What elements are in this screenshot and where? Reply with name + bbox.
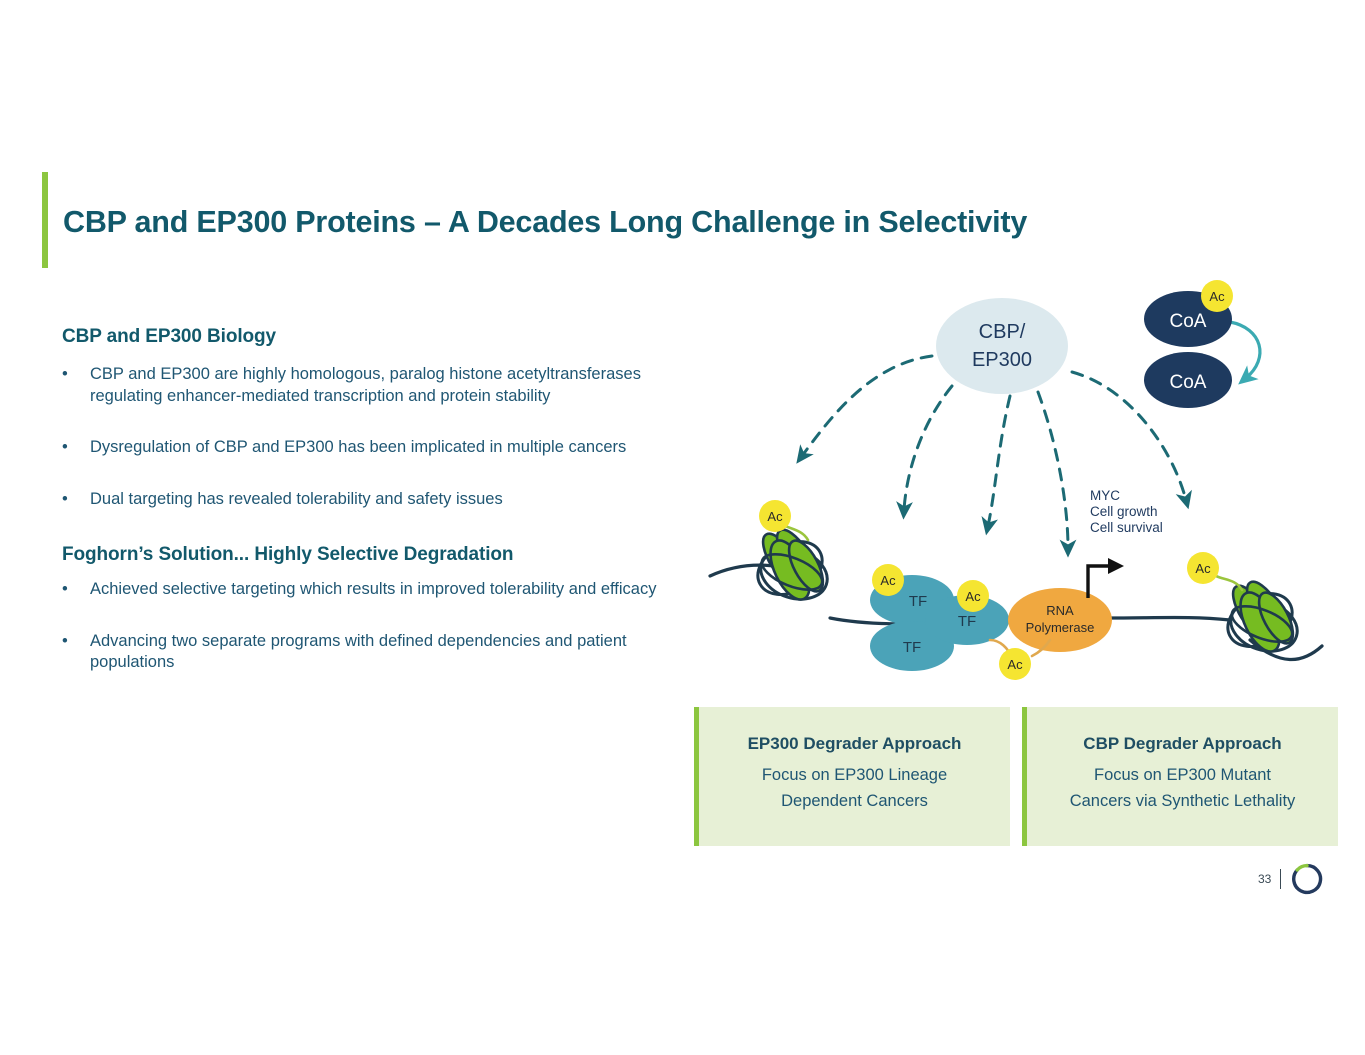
bubble-label-line2: EP300 <box>972 349 1032 371</box>
approach-line-2: Dependent Cancers <box>781 788 928 814</box>
ac-label: Ac <box>1195 561 1211 576</box>
ac-label: Ac <box>880 573 896 588</box>
page-number: 33 <box>1258 872 1271 886</box>
ac-label: Ac <box>965 589 981 604</box>
approach-boxes: EP300 Degrader Approach Focus on EP300 L… <box>694 707 1338 846</box>
cbp-ep300-mechanism-diagram: Ac TF TF TF Ac Ac <box>690 268 1340 698</box>
approach-title: EP300 Degrader Approach <box>748 734 962 754</box>
ac-badge-right-nucleosome: Ac <box>1187 552 1219 584</box>
outcome-text-block: MYC Cell growth Cell survival <box>1090 488 1163 535</box>
title-accent-bar <box>42 172 48 268</box>
dashed-arrow-2 <box>904 386 952 510</box>
bullet-dot-icon: • <box>62 437 90 459</box>
bullet-text: Dual targeting has revealed tolerability… <box>90 489 662 511</box>
list-item: • CBP and EP300 are highly homologous, p… <box>62 364 662 407</box>
polymerase-label-line2: Polymerase <box>1026 620 1095 635</box>
ac-badge-tf-right: Ac <box>957 580 989 612</box>
bullet-text: Dysregulation of CBP and EP300 has been … <box>90 437 662 459</box>
list-item: • Dysregulation of CBP and EP300 has bee… <box>62 437 662 459</box>
list-item: • Advancing two separate programs with d… <box>62 631 662 674</box>
approach-box-cbp: CBP Degrader Approach Focus on EP300 Mut… <box>1022 707 1338 846</box>
list-item: • Dual targeting has revealed tolerabili… <box>62 489 662 511</box>
outcome-line-3: Cell survival <box>1090 520 1163 535</box>
approach-title: CBP Degrader Approach <box>1083 734 1281 754</box>
slide-footer: 33 <box>1258 862 1324 896</box>
list-item: • Achieved selective targeting which res… <box>62 579 662 601</box>
foghorn-logo-icon <box>1290 862 1324 896</box>
slide-canvas: CBP and EP300 Proteins – A Decades Long … <box>0 0 1365 1055</box>
section-foghorn-solution: Foghorn’s Solution... Highly Selective D… <box>62 544 662 674</box>
coa-recycle-arrow <box>1230 322 1260 378</box>
transcription-start-arrow-icon <box>1088 558 1124 598</box>
polymerase-label-line1: RNA <box>1046 603 1074 618</box>
bullet-dot-icon: • <box>62 364 90 407</box>
coa-label: CoA <box>1170 372 1207 393</box>
ac-badge-polymerase: Ac <box>999 648 1031 680</box>
tf-label: TF <box>909 593 927 610</box>
dashed-arrow-1 <box>802 356 932 456</box>
section-heading-biology: CBP and EP300 Biology <box>62 326 662 348</box>
ac-label: Ac <box>767 509 783 524</box>
bullet-list-biology: • CBP and EP300 are highly homologous, p… <box>62 364 662 510</box>
tf-label: TF <box>903 639 921 656</box>
bullet-text: CBP and EP300 are highly homologous, par… <box>90 364 662 407</box>
ac-badge-coa: Ac <box>1201 280 1233 312</box>
outcome-line-1: MYC <box>1090 488 1120 503</box>
ac-badge-tf-upper: Ac <box>872 564 904 596</box>
approach-box-ep300: EP300 Degrader Approach Focus on EP300 L… <box>694 707 1010 846</box>
dashed-arrow-4 <box>1038 392 1068 548</box>
bullet-dot-icon: • <box>62 631 90 674</box>
nucleosome-left-icon <box>749 524 834 607</box>
left-content-column: CBP and EP300 Biology • CBP and EP300 ar… <box>62 326 662 704</box>
tf-label: TF <box>958 613 976 630</box>
dashed-arrow-3 <box>988 396 1010 526</box>
ac-label: Ac <box>1007 657 1023 672</box>
nucleosome-right-icon <box>1219 576 1304 659</box>
outcome-line-2: Cell growth <box>1090 504 1158 519</box>
section-cbp-ep300-biology: CBP and EP300 Biology • CBP and EP300 ar… <box>62 326 662 510</box>
section-heading-solution: Foghorn’s Solution... Highly Selective D… <box>62 544 662 566</box>
approach-line-2: Cancers via Synthetic Lethality <box>1070 788 1296 814</box>
bullet-dot-icon: • <box>62 489 90 511</box>
coa-label: CoA <box>1170 311 1207 332</box>
approach-line-1: Focus on EP300 Mutant <box>1094 762 1271 788</box>
bullet-text: Advancing two separate programs with def… <box>90 631 662 674</box>
ac-badge-left-nucleosome: Ac <box>759 500 791 532</box>
bullet-text: Achieved selective targeting which resul… <box>90 579 662 601</box>
cbp-ep300-bubble: CBP/ EP300 <box>936 298 1068 394</box>
ac-label: Ac <box>1209 289 1225 304</box>
approach-line-1: Focus on EP300 Lineage <box>762 762 947 788</box>
coa-bottom-ellipse: CoA <box>1144 352 1232 408</box>
footer-divider <box>1280 869 1281 889</box>
bullet-list-solution: • Achieved selective targeting which res… <box>62 579 662 674</box>
page-title: CBP and EP300 Proteins – A Decades Long … <box>63 205 1213 240</box>
bubble-label-line1: CBP/ <box>979 321 1026 343</box>
rna-polymerase-oval: RNA Polymerase <box>1008 588 1112 652</box>
bullet-dot-icon: • <box>62 579 90 601</box>
